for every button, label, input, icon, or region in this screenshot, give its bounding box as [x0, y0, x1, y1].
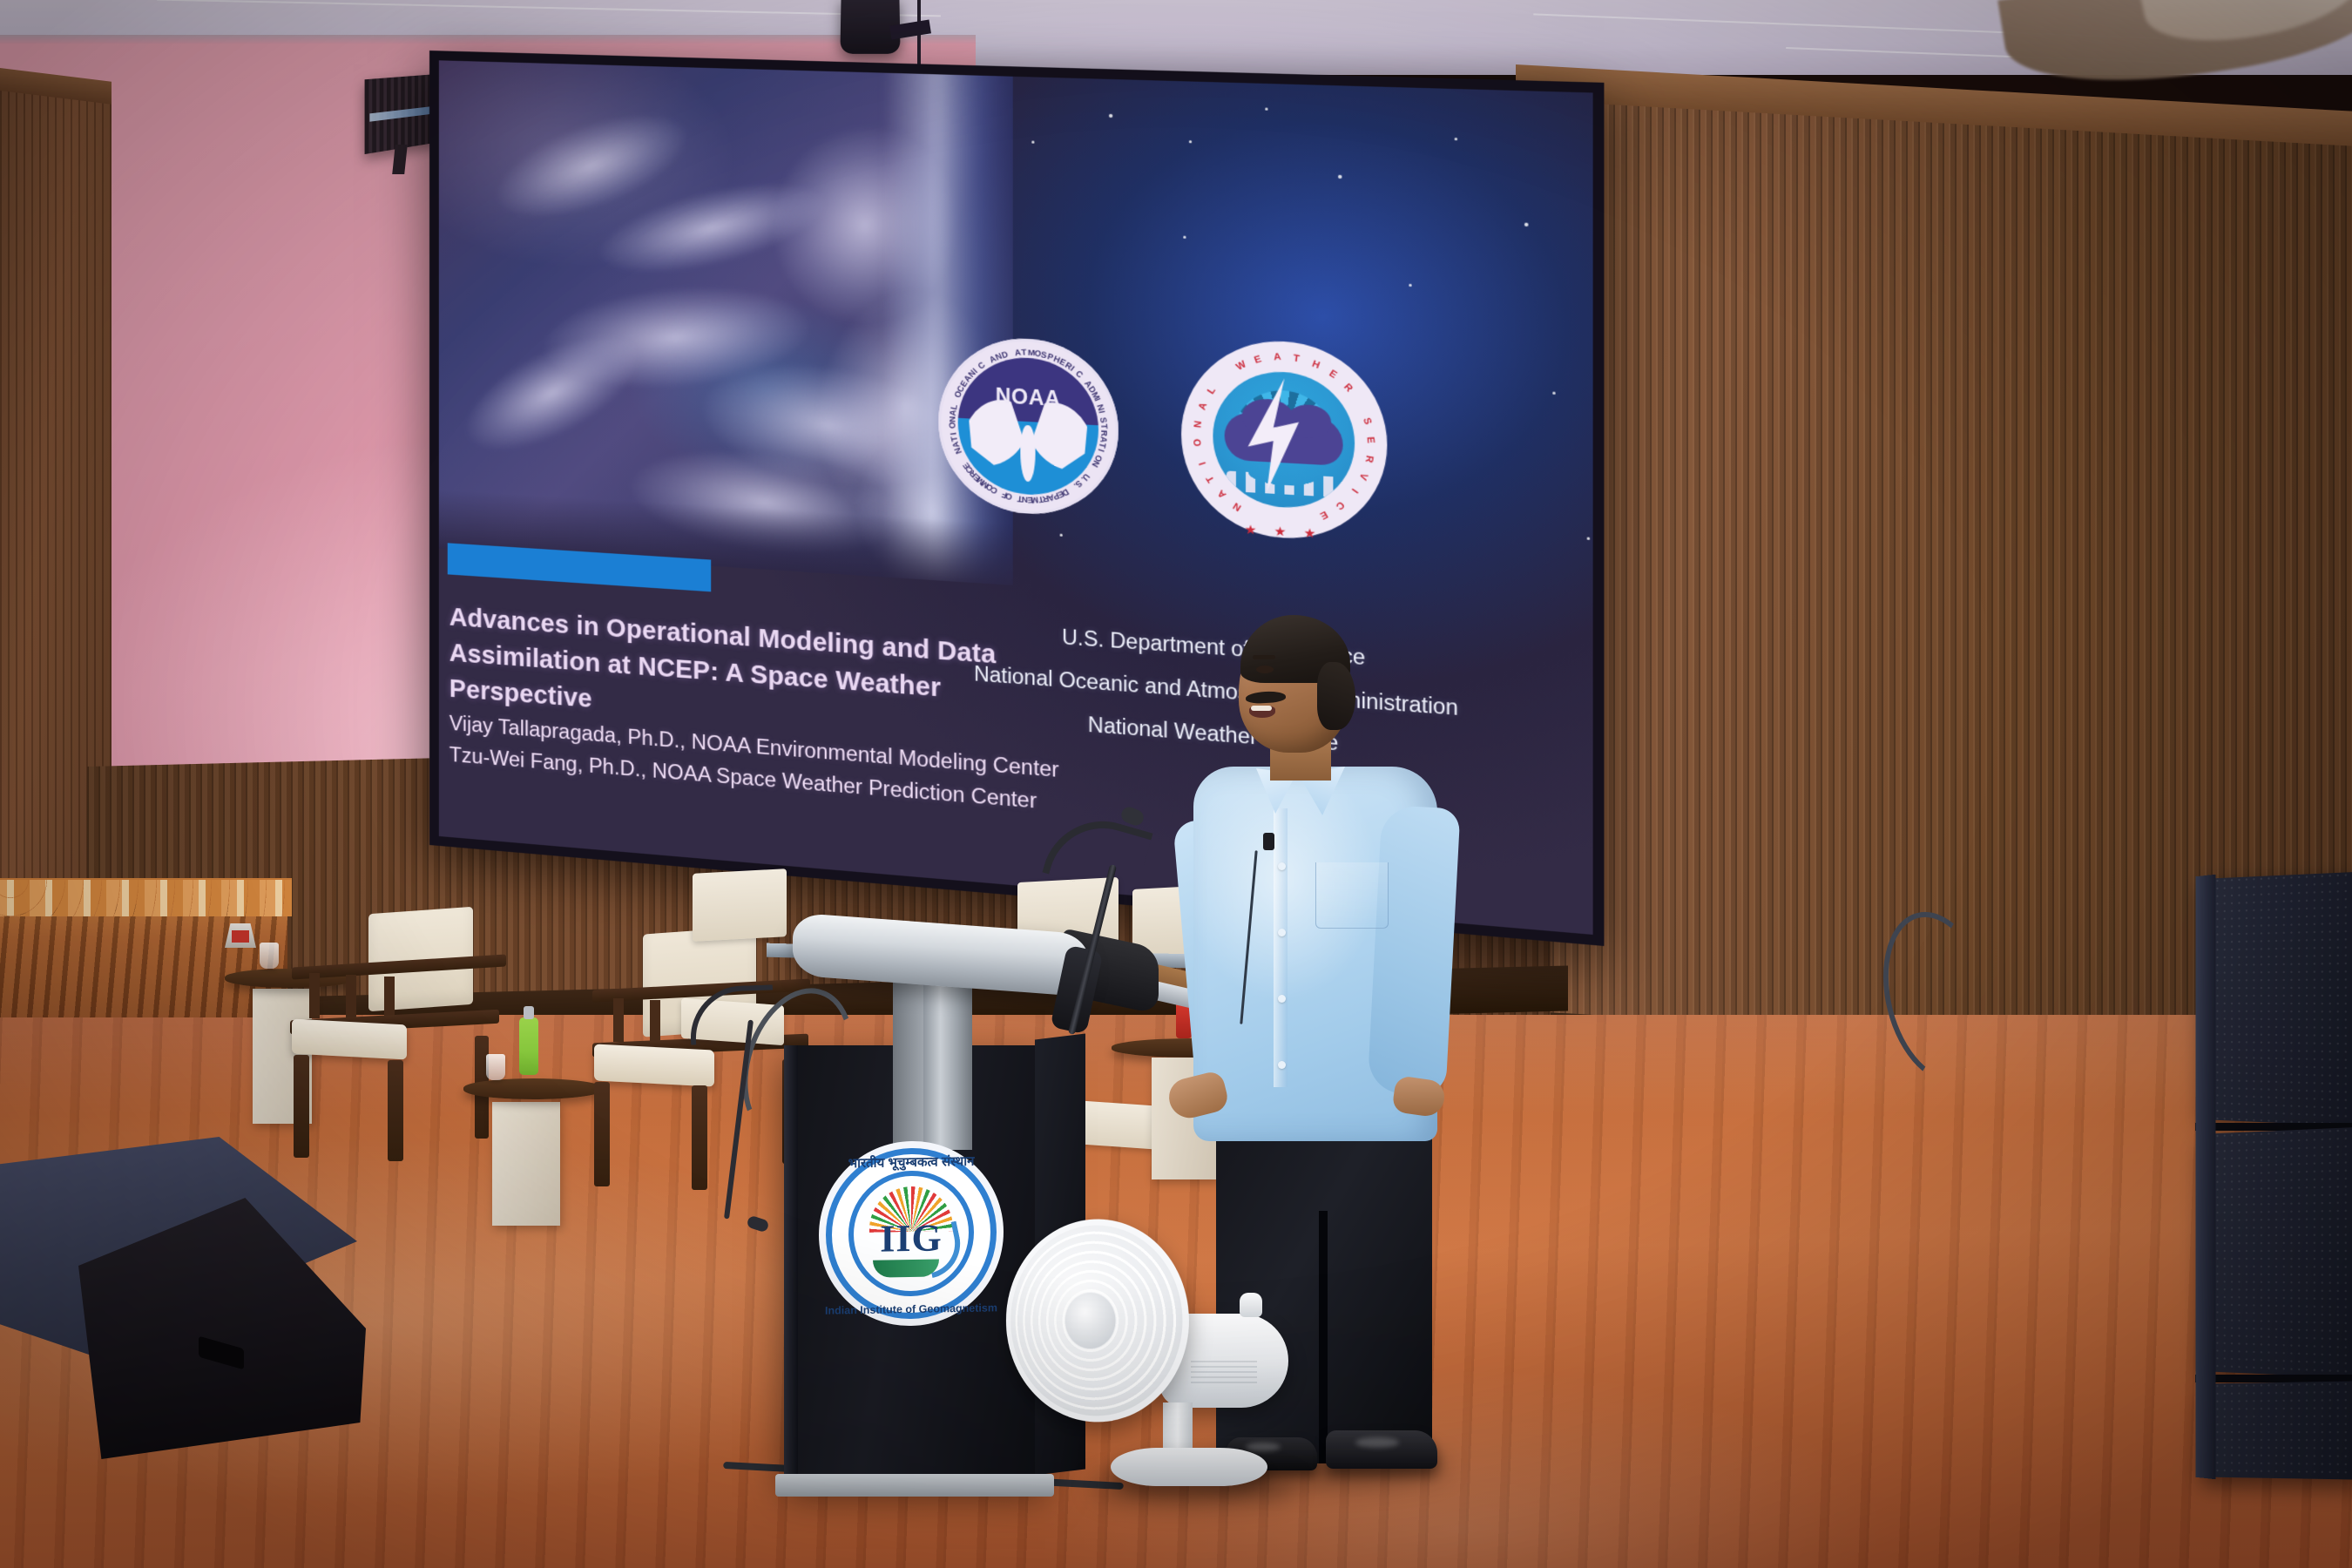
iig-emblem-hindi-text: भारतीय भूचुम्बकत्व संस्थान	[819, 1152, 1004, 1173]
pa-speaker-front-edge	[2196, 875, 2216, 1480]
armchair-1-slat-2	[346, 975, 356, 1020]
pa-speaker-cabinet-bottom	[2200, 1381, 2352, 1479]
armchair-2-front-leg-l	[594, 1082, 610, 1186]
presenter-hair-side	[1317, 662, 1355, 730]
drinking-glass-2	[486, 1054, 505, 1080]
armchair-2-slat-2	[650, 1000, 660, 1044]
armchair-2-front-leg-r	[692, 1085, 707, 1190]
pedestal-stand-2	[492, 1102, 560, 1226]
fan-base	[1111, 1448, 1267, 1486]
fan-rating-label	[1191, 1361, 1257, 1383]
pa-speaker-cabinet-middle	[2200, 1127, 2352, 1378]
draped-table-valance	[0, 880, 292, 916]
fan-stem	[1163, 1402, 1193, 1455]
nws-water-waves	[1227, 470, 1342, 497]
armchair-1-slat-1	[309, 973, 320, 1018]
fan-control-knob[interactable]	[1240, 1293, 1262, 1317]
presenter-shirt-placket	[1274, 808, 1288, 1087]
side-table-2	[463, 1078, 603, 1099]
conference-hall-photo: NATIONAL OCEANIC AND ATMOSPHERIC ADMINIS…	[0, 0, 2352, 1568]
lectern-top-surface	[793, 913, 1089, 997]
presenter-eyebrow	[1253, 655, 1275, 659]
presenter-teeth	[1251, 706, 1272, 711]
noaa-logo-icon: NATIONAL OCEANIC AND ATMOSPHERIC ADMINIS…	[938, 335, 1118, 518]
stage-light-lens	[369, 106, 433, 122]
lapel-microphone-icon	[1263, 833, 1274, 850]
nws-logo-icon: NATIONAL WEATHER SERVICE ★ ★ ★	[1181, 337, 1387, 544]
pa-speaker-cabinet-top	[2200, 872, 2352, 1127]
name-plate-1-accent	[232, 930, 249, 943]
chair-back-rest-3	[693, 868, 787, 942]
pa-speaker-column	[2195, 875, 2352, 1468]
drinking-glass-1	[260, 943, 279, 969]
armchair-1-front-leg-r	[388, 1060, 403, 1161]
stage-light-fixture	[365, 74, 437, 154]
presenter-shirt-button-3	[1278, 995, 1286, 1003]
presenter-eye	[1256, 666, 1274, 673]
slide-logos: NATIONAL OCEANIC AND ATMOSPHERIC ADMINIS…	[938, 326, 1387, 547]
pedestal-fan[interactable]	[989, 1220, 1250, 1533]
presenter-shirt-button-2	[1278, 929, 1286, 936]
noaa-bird-body	[1020, 425, 1035, 483]
lectern-column	[923, 976, 972, 1150]
presenter-shirt-button-1	[1278, 862, 1286, 870]
iig-emblem-monogram: IIG	[819, 1214, 1004, 1262]
presenter-shoe-right	[1326, 1430, 1437, 1469]
armchair-2-slat-1	[613, 998, 624, 1042]
presenter-shirt-button-4	[1278, 1061, 1286, 1069]
wall-pink-edge	[0, 35, 976, 44]
presenter-arm-right	[1367, 805, 1460, 1096]
presenter-shirt-pocket	[1315, 862, 1389, 929]
lectern-body-edge	[784, 1045, 798, 1481]
water-bottle-green	[519, 1017, 538, 1075]
earth-from-space-image	[439, 60, 1013, 585]
armchair-1-seat	[292, 1019, 407, 1060]
presenter-trouser-seam	[1319, 1211, 1328, 1463]
armchair-2-seat	[594, 1044, 714, 1086]
stage-monitor-speaker	[0, 1137, 383, 1485]
